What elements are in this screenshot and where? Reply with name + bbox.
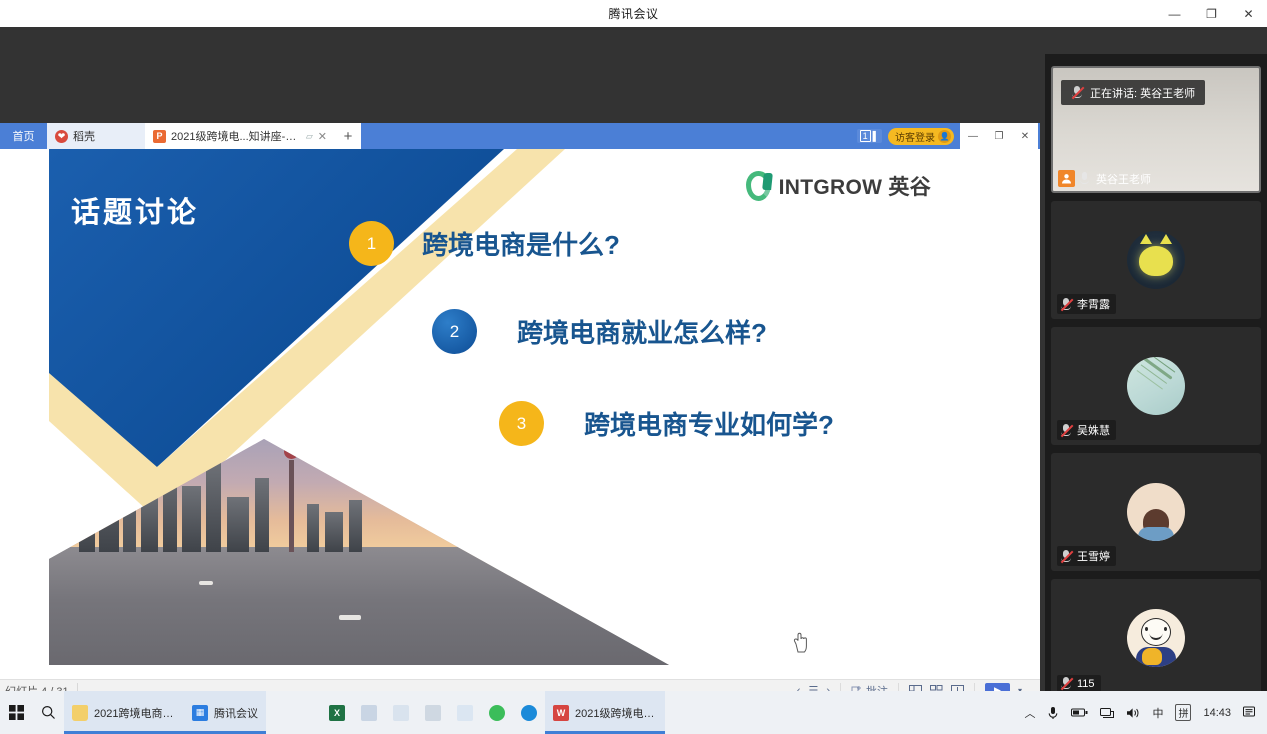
window-controls: — ❐ ✕	[1156, 0, 1267, 27]
logo-text: INTGROW 英谷	[779, 171, 931, 201]
slide-canvas-area: 话题讨论 INTGROW 英谷 1 跨境电商是什么? 2	[0, 149, 1040, 679]
participant-name: 115	[1077, 678, 1095, 690]
participant-name: 英谷王老师	[1094, 171, 1151, 187]
speaking-label: 正在讲话: 英谷王老师	[1090, 85, 1195, 101]
edge-icon[interactable]	[513, 691, 545, 734]
mic-icon	[1079, 172, 1090, 185]
slide[interactable]: 话题讨论 INTGROW 英谷 1 跨境电商是什么? 2	[49, 149, 967, 665]
slide-item-3: 3 跨境电商专业如何学?	[499, 401, 834, 446]
wps-tab-label: 稻壳	[73, 128, 137, 144]
participant-tile[interactable]: 115	[1051, 579, 1261, 697]
tray-chevron-icon[interactable]: ︿	[1024, 705, 1035, 721]
notification-icon[interactable]	[1243, 706, 1257, 719]
avatar	[1127, 357, 1185, 415]
windows-taskbar: 2021跨境电商新生讲... ▦ 腾讯会议 X W 2021级跨境电商专业...…	[0, 691, 1267, 734]
folder-icon	[72, 705, 88, 721]
tencent-meeting-icon: ▦	[192, 705, 208, 721]
close-button[interactable]: ✕	[1230, 0, 1267, 27]
taskbar-item-wps[interactable]: W 2021级跨境电商专业...	[545, 691, 665, 734]
mic-muted-icon	[1060, 424, 1072, 437]
start-icon[interactable]	[0, 691, 32, 734]
photo-building	[349, 500, 362, 552]
participant-name: 李霄露	[1077, 296, 1110, 312]
shared-screen-stage: 首页 ❤ 稻壳 P 2021级跨境电...知讲座-济宁学院 ▱ ✕ +	[0, 27, 1045, 691]
slide-item-number: 1	[349, 221, 394, 266]
photo-boat	[339, 615, 361, 620]
avatar	[1127, 609, 1185, 667]
network-icon[interactable]	[1100, 707, 1114, 719]
search-icon[interactable]	[32, 691, 64, 734]
mic-muted-icon	[1060, 677, 1072, 690]
wps-minimize-button[interactable]: —	[960, 123, 986, 149]
photo-building	[182, 486, 201, 552]
participant-namebar: 英谷王老师	[1058, 170, 1151, 187]
slide-item-number: 3	[499, 401, 544, 446]
system-tray: ︿	[1024, 704, 1267, 721]
calculator-icon[interactable]	[417, 691, 449, 734]
tabbar-spacer	[361, 123, 857, 149]
wps-icon: W	[553, 705, 569, 721]
participant-namebar: 115	[1057, 675, 1101, 692]
slide-item-text: 跨境电商就业怎么样?	[517, 313, 767, 350]
ppt-icon: P	[153, 130, 166, 143]
photo-building	[307, 504, 319, 552]
wechat-icon[interactable]	[481, 691, 513, 734]
app-root: 腾讯会议 — ❐ ✕ 首页 ❤ 稻壳 P 2021级跨境电	[0, 0, 1267, 734]
wps-tab-docer[interactable]: ❤ 稻壳	[47, 123, 145, 149]
clock[interactable]: 14:43	[1203, 707, 1231, 719]
intgrow-logo: INTGROW 英谷	[746, 171, 931, 201]
photo-building	[325, 512, 343, 552]
mic-muted-icon	[1060, 550, 1072, 563]
guest-login-button[interactable]: 访客登录 👤	[888, 128, 954, 145]
document-icon[interactable]	[353, 691, 385, 734]
participant-tile[interactable]: 吴姝慧	[1051, 327, 1261, 445]
wps-office-window: 首页 ❤ 稻壳 P 2021级跨境电...知讲座-济宁学院 ▱ ✕ +	[0, 123, 1040, 691]
participant-tile[interactable]: 李霄露	[1051, 201, 1261, 319]
slide-item-text: 跨境电商是什么?	[422, 225, 620, 262]
wps-close-button[interactable]: ✕	[1012, 123, 1038, 149]
host-badge-icon	[1058, 170, 1075, 187]
photo-water	[49, 547, 669, 665]
participant-name: 王雪婷	[1077, 548, 1110, 564]
slide-item-2: 2 跨境电商就业怎么样?	[432, 309, 767, 354]
slide-item-1: 1 跨境电商是什么?	[349, 221, 620, 266]
wps-window-controls: — ❐ ✕	[960, 123, 1038, 149]
guest-login-label: 访客登录	[895, 129, 935, 144]
wps-tab-presentation[interactable]: P 2021级跨境电...知讲座-济宁学院 ▱ ✕	[145, 123, 335, 149]
participant-tile[interactable]: 王雪婷	[1051, 453, 1261, 571]
meeting-body: 首页 ❤ 稻壳 P 2021级跨境电...知讲座-济宁学院 ▱ ✕ +	[0, 27, 1267, 691]
photo-building	[206, 460, 221, 552]
taskbar-item-label: 腾讯会议	[214, 705, 258, 721]
panel-icon: ▌	[873, 131, 879, 141]
language-indicator[interactable]: 中	[1152, 705, 1163, 721]
avatar	[1127, 231, 1185, 289]
maximize-button[interactable]: ❐	[1193, 0, 1230, 27]
wps-tab-label: 2021级跨境电...知讲座-济宁学院	[171, 128, 301, 144]
photo-building	[255, 478, 269, 552]
new-tab-button[interactable]: +	[335, 123, 361, 149]
participant-name: 吴姝慧	[1077, 422, 1110, 438]
page-count-badge[interactable]: 1 ▌	[857, 129, 882, 143]
photo-building	[79, 480, 95, 552]
wps-tabbar-right: 1 ▌ 访客登录 👤 — ❐ ✕	[857, 123, 1040, 149]
slide-title: 话题讨论	[71, 189, 199, 231]
participant-namebar: 李霄露	[1057, 294, 1116, 314]
cloud-sync-icon: ▱	[306, 131, 313, 142]
mic-muted-icon	[1060, 298, 1072, 311]
participant-panel[interactable]: 正在讲话: 英谷王老师 英谷王老师	[1045, 54, 1267, 718]
slide-item-number: 2	[432, 309, 477, 354]
intgrow-leaf-icon	[746, 171, 771, 201]
volume-icon[interactable]	[1126, 707, 1140, 719]
participant-namebar: 吴姝慧	[1057, 420, 1116, 440]
participant-tile-host[interactable]: 正在讲话: 英谷王老师 英谷王老师	[1051, 66, 1261, 193]
photo-boat	[199, 581, 213, 585]
page-count-value: 1	[860, 130, 871, 142]
docer-icon: ❤	[55, 130, 68, 143]
taskbar-item-label: 2021跨境电商新生讲...	[94, 705, 176, 721]
mic-muted-icon	[1071, 86, 1083, 99]
mouse-cursor-icon	[793, 631, 810, 653]
ime-indicator[interactable]: 拼	[1175, 704, 1191, 721]
wps-home-tab[interactable]: 首页	[0, 123, 47, 149]
excel-icon[interactable]: X	[321, 691, 353, 734]
battery-icon[interactable]	[1071, 707, 1088, 718]
wps-maximize-button[interactable]: ❐	[986, 123, 1012, 149]
taskbar-item-label: 2021级跨境电商专业...	[575, 705, 657, 721]
wps-tab-bar: 首页 ❤ 稻壳 P 2021级跨境电...知讲座-济宁学院 ▱ ✕ +	[0, 123, 1040, 149]
photos-icon[interactable]	[449, 691, 481, 734]
mic-icon[interactable]	[1047, 706, 1059, 720]
minimize-button[interactable]: —	[1156, 0, 1193, 27]
participant-namebar: 王雪婷	[1057, 546, 1116, 566]
page-title: 腾讯会议	[608, 5, 658, 22]
avatar	[1127, 483, 1185, 541]
taskbar-item-folder[interactable]: 2021跨境电商新生讲...	[64, 691, 184, 734]
paint-icon[interactable]	[385, 691, 417, 734]
close-icon[interactable]: ✕	[318, 130, 327, 143]
meeting-title-bar: 腾讯会议 — ❐ ✕	[0, 0, 1267, 27]
taskbar-item-tencent-meeting[interactable]: ▦ 腾讯会议	[184, 691, 266, 734]
avatar: 👤	[938, 130, 951, 143]
speaking-indicator: 正在讲话: 英谷王老师	[1061, 80, 1205, 105]
slide-item-text: 跨境电商专业如何学?	[584, 405, 834, 442]
photo-tv-tower	[289, 460, 294, 552]
photo-building	[227, 497, 249, 552]
